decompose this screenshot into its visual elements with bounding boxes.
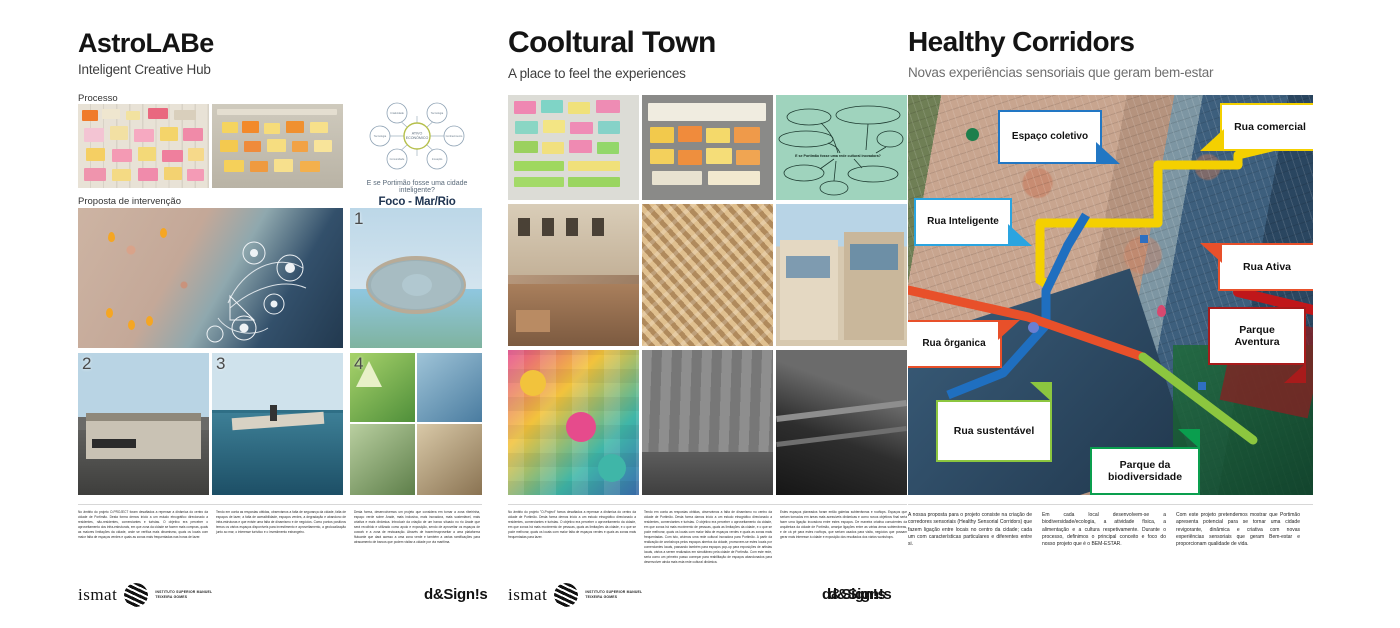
svg-text:Comunidade: Comunidade (390, 157, 405, 161)
body-paragraph: A nossa proposta para o projeto consiste… (908, 512, 1032, 548)
cooltural-photo-1 (508, 95, 639, 200)
callout-label: Parque da biodiversidade (1098, 459, 1192, 483)
body-text-columns: No âmbito do projeto O-PROJECT foram des… (78, 510, 482, 545)
body-paragraph: Em cada local desenvolvem-se a biodivers… (1042, 512, 1166, 548)
proposal-render-3: 3 (212, 353, 343, 495)
map-pin-icon (1140, 235, 1148, 243)
panel-subtitle: A place to feel the experiences (508, 66, 686, 81)
svg-text:ECONÓMICO: ECONÓMICO (406, 135, 429, 140)
panel-subtitle: Inteligent Creative Hub (78, 62, 211, 77)
svg-text:Inovação: Inovação (432, 157, 443, 161)
cooltural-photo-6 (508, 350, 639, 495)
body-paragraph: Tendo em conta as respostas obtidas, obs… (644, 510, 772, 564)
panel-astrolabe: AstroLABe Inteligent Creative Hub Proces… (0, 0, 480, 628)
cooltural-photo-2 (642, 95, 773, 200)
callout-rua-organica[interactable]: Rua ôrganica (908, 320, 1002, 368)
process-photo-2 (212, 104, 343, 188)
panel-title: Healthy Corridors (908, 28, 1134, 56)
callout-label: Rua ôrganica (922, 338, 985, 350)
section-label-proposta: Proposta de intervenção (78, 196, 181, 207)
cooltural-photo-5 (776, 204, 907, 346)
callout-tail (1200, 243, 1222, 263)
divider-rule (908, 504, 1313, 505)
cooltural-mindmap: E se Portimão fosse uma rede cultural in… (776, 95, 907, 200)
body-text-columns: A nossa proposta para o projeto consiste… (908, 512, 1313, 548)
callout-label: Rua comercial (1234, 121, 1306, 133)
panel-cooltural: Cooltural Town A place to feel the exper… (480, 0, 900, 628)
svg-text:Criatividade: Criatividade (390, 111, 404, 115)
callout-rua-sustentavel[interactable]: Rua sustentável (936, 400, 1052, 462)
cooltural-photo-3 (508, 204, 639, 346)
ismat-tagline: INSTITUTO SUPERIOR MANUEL TEIXEIRA GOMES (155, 590, 217, 600)
mindmap-caption: E se Portimão fosse uma cidade inteligen… (352, 180, 482, 194)
proposal-render-1: 1 (350, 208, 482, 348)
image-number-1: 1 (354, 209, 363, 229)
section-label-processo: Processo (78, 93, 118, 104)
map-pin-icon (1028, 322, 1039, 333)
callout-tail (998, 320, 1020, 340)
body-paragraph: No âmbito do projeto "O-Project" fomos d… (508, 510, 636, 564)
ismat-wordmark: ismat (508, 585, 547, 605)
cooltural-photo-8 (776, 350, 907, 495)
cooltural-mindmap-svg: E se Portimão fosse uma rede cultural in… (776, 95, 907, 200)
route-rua-sustentavel (1143, 357, 1253, 440)
image-number-3: 3 (216, 354, 225, 374)
map-pin-icon (1198, 382, 1206, 390)
callout-tail (1030, 382, 1052, 402)
callout-label: Rua sustentável (954, 425, 1035, 437)
svg-text:Tecnologia: Tecnologia (431, 111, 444, 115)
image-number-2: 2 (82, 354, 91, 374)
process-photo-1 (78, 104, 209, 188)
svg-text:Tecnologia: Tecnologia (374, 134, 387, 138)
panel-healthy-corridors: Healthy Corridors Novas experiências sen… (900, 0, 1400, 628)
callout-label: Parque Aventura (1216, 324, 1298, 348)
ismat-logo: ismat INSTITUTO SUPERIOR MANUEL TEIXEIRA… (78, 583, 217, 607)
cooltural-photo-4 (642, 204, 773, 346)
svg-text:Conhecimento: Conhecimento (446, 134, 463, 138)
body-paragraph: Tendo em conta as respostas obtidas, obs… (216, 510, 346, 545)
dsigns-logo: d&Sign!s (424, 586, 487, 603)
divider-rule (508, 504, 907, 505)
aerial-overlay (78, 208, 343, 348)
callout-tail (1284, 363, 1306, 383)
ismat-wordmark: ismat (78, 585, 117, 605)
callout-label: Rua Ativa (1243, 261, 1291, 273)
divider-rule (78, 504, 482, 505)
ismat-globe-icon (124, 583, 148, 607)
proposal-aerial-map (78, 208, 343, 348)
body-paragraph: No âmbito do projeto O-PROJECT foram des… (78, 510, 208, 545)
callout-rua-ativa[interactable]: Rua Ativa (1218, 243, 1313, 291)
callout-parque-biodiversidade[interactable]: Parque da biodiversidade (1090, 447, 1200, 495)
callout-tail (1200, 129, 1224, 151)
body-paragraph: Estes espaços planeados foram então gale… (780, 510, 907, 564)
cooltural-photo-7 (642, 350, 773, 495)
panel-title: AstroLABe (78, 30, 214, 57)
body-paragraph: Com este projeto pretendemos mostrar que… (1176, 512, 1300, 548)
ismat-globe-icon (554, 583, 578, 607)
poster-board: AstroLABe Inteligent Creative Hub Proces… (0, 0, 1400, 628)
callout-label: Rua Inteligente (927, 216, 999, 228)
body-text-columns: No âmbito do projeto "O-Project" fomos d… (508, 510, 907, 564)
mindmap-svg: ATIVO ECONÓMICO Criatividade Tecnologia … (352, 100, 482, 172)
mindmap-diagram: ATIVO ECONÓMICO Criatividade Tecnologia … (352, 100, 482, 190)
callout-label: Espaço coletivo (1012, 131, 1088, 143)
map-pin-icon (966, 128, 979, 141)
svg-text:ATIVO: ATIVO (412, 132, 423, 136)
map-pin-icon (1157, 305, 1166, 317)
callout-espaco-coletivo[interactable]: Espaço coletivo (998, 110, 1102, 164)
callout-tail (1096, 142, 1120, 164)
panel-title: Cooltural Town (508, 28, 716, 58)
mindmap-focus: Foco - Mar/Rio (352, 196, 482, 208)
callout-rua-inteligente[interactable]: Rua Inteligente (914, 198, 1012, 246)
proposal-render-2: 2 (78, 353, 209, 495)
ismat-tagline: INSTITUTO SUPERIOR MANUEL TEIXEIRA GOMES (585, 590, 647, 600)
body-paragraph: Desta forma, desenvolvemos um projeto qu… (354, 510, 480, 545)
image-number-4: 4 (354, 354, 363, 374)
healthy-corridors-map: Espaço coletivo Rua comercial Rua Inteli… (908, 95, 1313, 495)
svg-text:E se Portimão fosse uma rede c: E se Portimão fosse uma rede cultural in… (795, 154, 881, 158)
callout-tail (1008, 224, 1032, 246)
panel-subtitle: Novas experiências sensoriais que geram … (908, 65, 1213, 80)
callout-rua-comercial[interactable]: Rua comercial (1220, 103, 1313, 151)
dsigns-logo: d&Sign!s (822, 586, 885, 603)
proposal-render-4: 4 (350, 353, 482, 495)
callout-tail (1178, 429, 1200, 449)
callout-parque-aventura[interactable]: Parque Aventura (1208, 307, 1306, 365)
ismat-logo: ismat INSTITUTO SUPERIOR MANUEL TEIXEIRA… (508, 583, 647, 607)
